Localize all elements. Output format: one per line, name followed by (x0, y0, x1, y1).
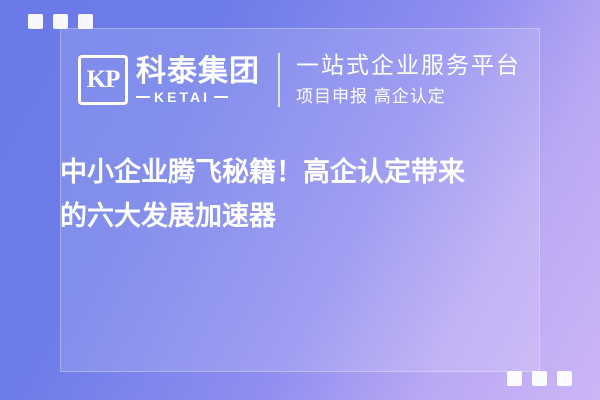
brand-name-en-row: KETAI (136, 90, 260, 104)
slogan-block: 一站式企业服务平台 项目申报 高企认定 (296, 50, 540, 110)
decorative-dots-bottom-right (507, 371, 572, 386)
headline-block: 中小企业腾飞秘籍！高企认定带来 的六大发展加速器 (60, 150, 552, 238)
headline-line-2: 的六大发展加速器 (60, 194, 552, 238)
logo-monogram-icon: KP (78, 55, 128, 105)
rule-right-icon (214, 96, 228, 98)
logo-monogram-text: KP (87, 66, 120, 94)
decorative-dots-top-left (28, 14, 93, 29)
dot-icon (28, 14, 43, 29)
logo-text: 科泰集团 KETAI (136, 56, 260, 104)
brand-header: KP 科泰集团 KETAI 一站式企业服务平台 项目申报 高企认定 (60, 28, 540, 132)
headline-line-1: 中小企业腾飞秘籍！高企认定带来 (60, 150, 552, 194)
brand-name-en: KETAI (154, 90, 210, 104)
poster-canvas: KP 科泰集团 KETAI 一站式企业服务平台 项目申报 高企认定 中小企业腾飞… (0, 0, 600, 400)
brand-name-cn: 科泰集团 (136, 56, 260, 88)
logo: KP 科泰集团 KETAI (78, 55, 260, 105)
dot-icon (557, 371, 572, 386)
slogan-main: 一站式企业服务平台 (296, 50, 540, 80)
dot-icon (507, 371, 522, 386)
dot-icon (532, 371, 547, 386)
dot-icon (53, 14, 68, 29)
slogan-sub: 项目申报 高企认定 (296, 84, 540, 110)
dot-icon (78, 14, 93, 29)
vertical-divider (278, 53, 280, 107)
rule-left-icon (136, 96, 150, 98)
